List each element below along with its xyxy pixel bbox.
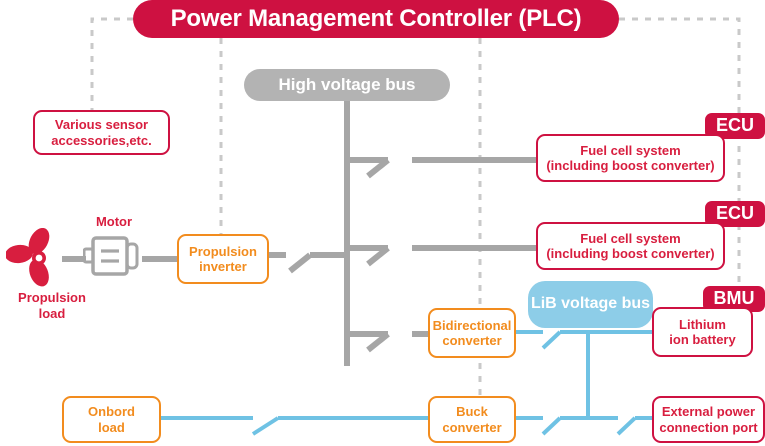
sensors-line2: accessories,etc. (51, 133, 151, 148)
page-title: Power Management Controller (PLC) (133, 0, 619, 38)
propulsion-load-label: Propulsion load (0, 290, 104, 321)
bidirectional-converter-box[interactable]: Bidirectional converter (428, 308, 516, 358)
propeller-icon (6, 228, 68, 290)
lib-voltage-bus-wires (160, 330, 653, 418)
bidirectional-converter-line1: Bidirectional (433, 318, 512, 333)
propulsion-inverter-line2: inverter (189, 259, 257, 274)
fuel-cell-2-line1: Fuel cell system (546, 231, 714, 246)
lithium-battery-box[interactable]: Lithium ion battery (652, 307, 753, 357)
fuel-cell-2-line2: (including boost converter) (546, 246, 714, 261)
motor-label: Motor (80, 214, 148, 230)
sensors-box[interactable]: Various sensor accessories,etc. (33, 110, 170, 155)
propulsion-load-line1: Propulsion (0, 290, 104, 306)
high-voltage-bus-label: High voltage bus (244, 69, 450, 101)
propulsion-inverter-line1: Propulsion (189, 244, 257, 259)
onboard-load-line1: Onbord (88, 404, 135, 419)
external-power-port-line1: External power (659, 404, 757, 419)
onboard-load-box[interactable]: Onbord load (62, 396, 161, 443)
motor-icon (83, 232, 145, 280)
onboard-load-line2: load (88, 420, 135, 435)
fuel-cell-box-2[interactable]: Fuel cell system (including boost conver… (536, 222, 725, 270)
lithium-battery-line2: ion battery (669, 332, 735, 347)
fuel-cell-1-line2: (including boost converter) (546, 158, 714, 173)
buck-converter-box[interactable]: Buck converter (428, 396, 516, 443)
hv-switch-symbols (290, 160, 388, 350)
buck-converter-line1: Buck (442, 404, 501, 419)
diagram-canvas: Power Management Controller (PLC) High v… (0, 0, 765, 446)
buck-converter-line2: converter (442, 420, 501, 435)
propulsion-inverter-box[interactable]: Propulsion inverter (177, 234, 269, 284)
fuel-cell-1-line1: Fuel cell system (546, 143, 714, 158)
propulsion-load-line2: load (0, 306, 104, 322)
external-power-port-line2: connection port (659, 420, 757, 435)
fuel-cell-box-1[interactable]: Fuel cell system (including boost conver… (536, 134, 725, 182)
external-power-port-box[interactable]: External power connection port (652, 396, 765, 443)
lithium-battery-line1: Lithium (669, 317, 735, 332)
bidirectional-converter-line2: converter (433, 333, 512, 348)
lib-voltage-bus-label: LiB voltage bus (528, 281, 653, 328)
lib-voltage-bus-text: LiB voltage bus (531, 295, 650, 314)
sensors-line1: Various sensor (51, 117, 151, 132)
